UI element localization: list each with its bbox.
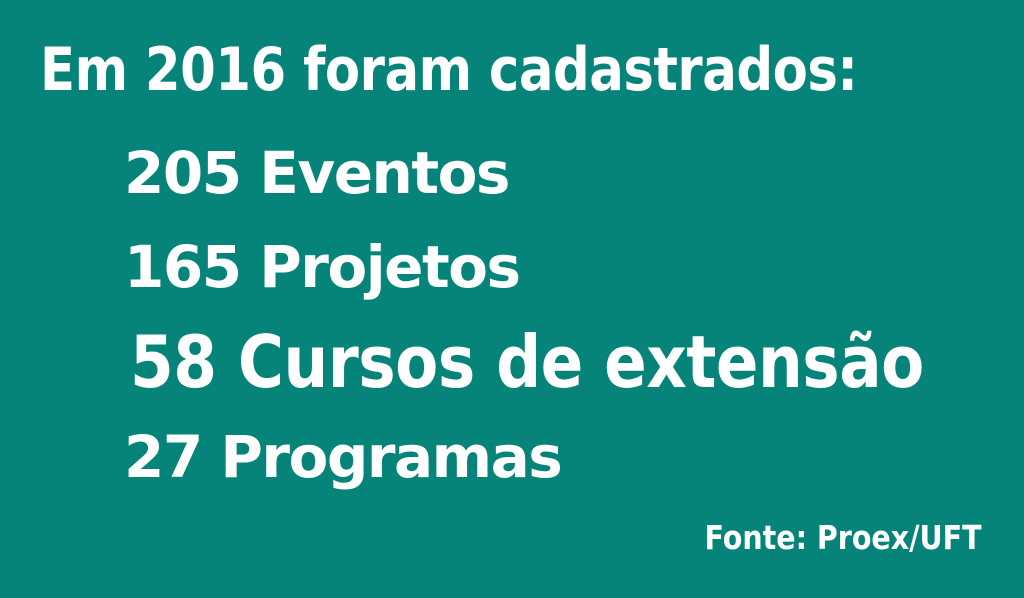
stat-number: 205 [124, 139, 241, 207]
list-item: 205 Eventos [124, 144, 509, 202]
list-item: 58 Cursos de extensão [130, 326, 924, 398]
source-attribution: Fonte: Proex/UFT [705, 521, 982, 555]
list-item: 165 Projetos [124, 238, 520, 296]
stat-label: Eventos [259, 139, 509, 207]
stat-label: Programas [220, 423, 561, 491]
stat-number: 58 [130, 320, 216, 404]
stat-number: 27 [124, 423, 202, 491]
stat-label: Cursos de extensão [238, 320, 924, 404]
infographic-poster: Em 2016 foram cadastrados: 205 Eventos 1… [0, 0, 1024, 598]
stat-number: 165 [124, 233, 241, 301]
list-item: 27 Programas [124, 428, 561, 486]
page-title: Em 2016 foram cadastrados: [40, 39, 943, 101]
stat-label: Projetos [259, 233, 519, 301]
